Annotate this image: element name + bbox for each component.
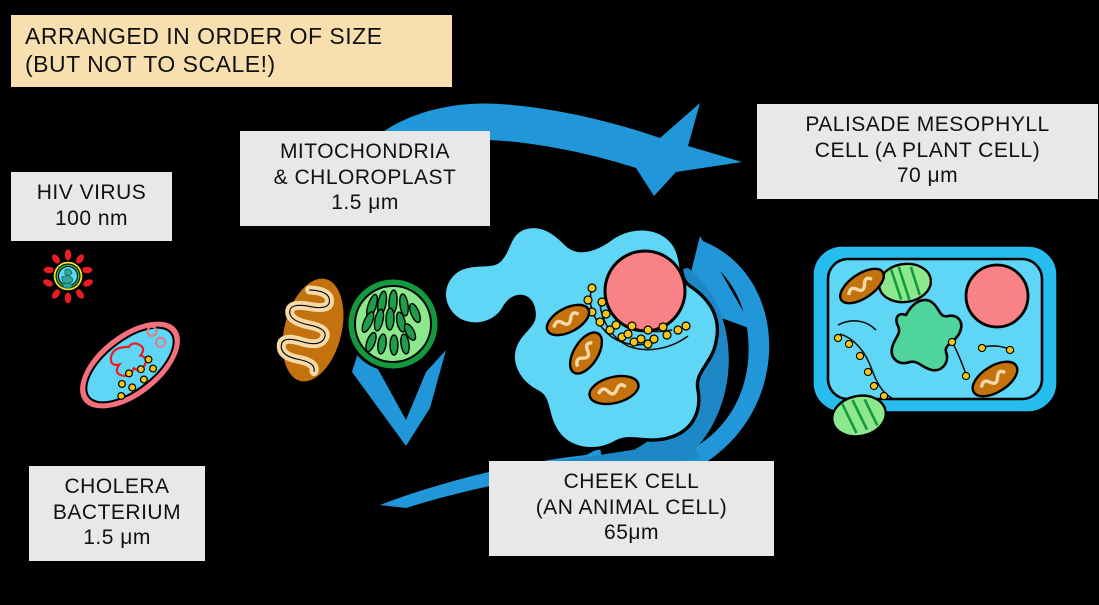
- label-cheek-cell-size: 65μm: [501, 520, 762, 546]
- label-organelles-line-1: MITOCHONDRIA: [252, 139, 478, 165]
- plant-cell: [812, 245, 1058, 441]
- plant-cell-nucleus: [966, 265, 1028, 327]
- label-cheek-cell-line-2: (AN ANIMAL CELL): [501, 495, 762, 521]
- label-organelles-line-2: & CHLOROPLAST: [252, 165, 478, 191]
- label-palisade-line-2: CELL (A PLANT CELL): [769, 138, 1086, 164]
- label-cholera-line-1: CHOLERA: [41, 474, 193, 500]
- label-cheek-cell-line-1: CHEEK CELL: [501, 469, 762, 495]
- label-hiv-virus-size: 100 nm: [23, 206, 160, 232]
- title-line-2: (BUT NOT TO SCALE!): [25, 50, 438, 78]
- label-hiv-virus-name: HIV VIRUS: [23, 180, 160, 206]
- label-palisade-mesophyll-cell: PALISADE MESOPHYLL CELL (A PLANT CELL) 7…: [757, 104, 1098, 199]
- label-palisade-line-1: PALISADE MESOPHYLL: [769, 112, 1086, 138]
- label-organelles-size: 1.5 μm: [252, 190, 478, 216]
- label-cholera-bacterium: CHOLERA BACTERIUM 1.5 μm: [29, 466, 205, 561]
- title-box: ARRANGED IN ORDER OF SIZE (BUT NOT TO SC…: [11, 15, 452, 87]
- label-cholera-size: 1.5 μm: [41, 525, 193, 551]
- label-cheek-cell: CHEEK CELL (AN ANIMAL CELL) 65μm: [489, 461, 774, 556]
- label-cholera-line-2: BACTERIUM: [41, 500, 193, 526]
- title-line-1: ARRANGED IN ORDER OF SIZE: [25, 22, 438, 50]
- label-hiv-virus: HIV VIRUS 100 nm: [11, 172, 172, 241]
- label-mitochondria-chloroplast: MITOCHONDRIA & CHLOROPLAST 1.5 μm: [240, 131, 490, 226]
- cell-size-comparison-diagram: ARRANGED IN ORDER OF SIZE (BUT NOT TO SC…: [0, 0, 1099, 605]
- label-palisade-size: 70 μm: [769, 163, 1086, 189]
